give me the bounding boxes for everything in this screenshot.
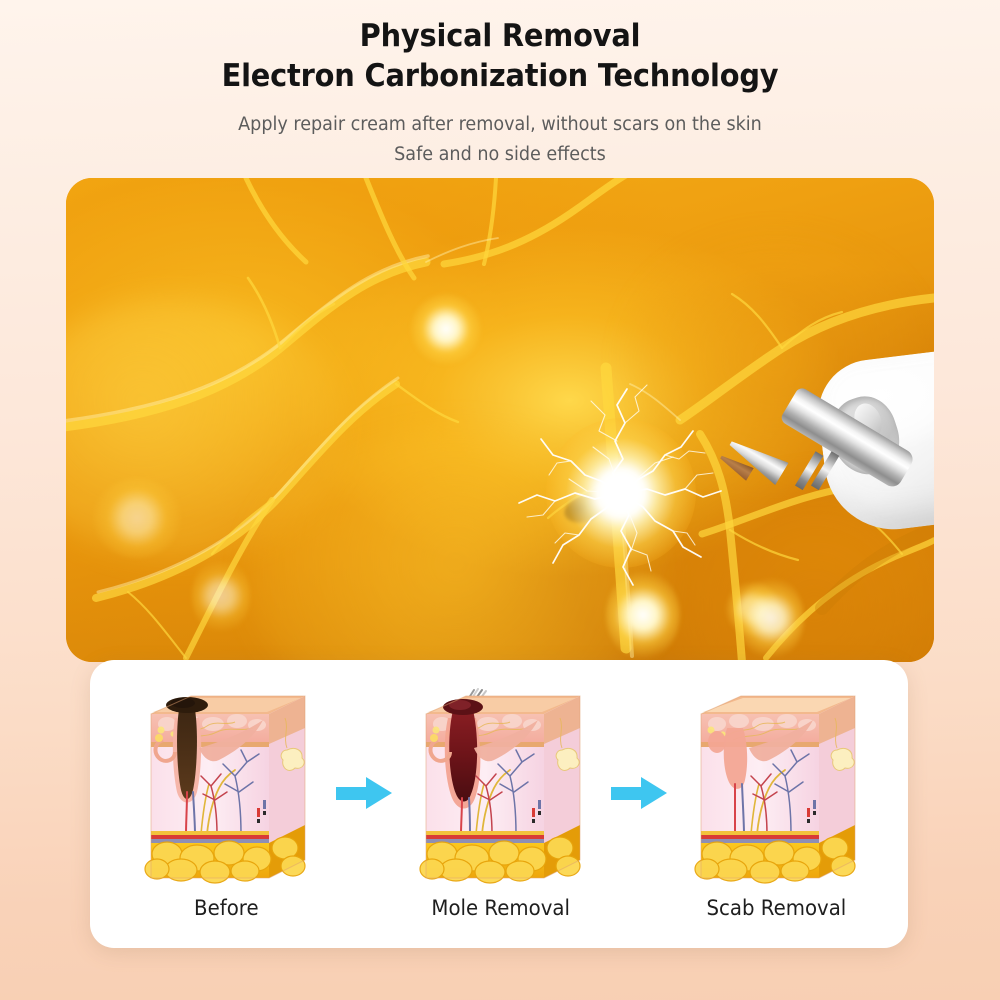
skin-diagram-scab-removal [687,688,865,884]
plasma-pen-device [808,349,934,564]
glow-node [606,570,680,660]
step-label: Scab Removal [706,896,846,920]
process-steps-card: Before [90,660,908,948]
subtitle-line-2: Safe and no side effects [25,140,975,171]
header-block: Physical Removal Electron Carbonization … [0,16,1000,171]
steps-row: Before [90,660,908,948]
skin-diagram-before [137,688,315,884]
arrow-shaft [336,787,370,800]
hero-image [66,178,934,662]
glow-node [92,478,182,558]
glow-node [192,558,250,634]
step-scab-removal: Scab Removal [678,688,874,920]
arrow-icon [336,776,392,810]
step-label: Before [194,896,259,920]
glow-node [411,294,481,364]
headline-line-2: Electron Carbonization Technology [35,56,965,96]
step-label: Mole Removal [432,896,571,920]
subtitle-block: Apply repair cream after removal, withou… [25,110,975,171]
arrow-head [366,777,392,809]
arrow-shaft [611,787,645,800]
step-mole-removal: Mole Removal [403,688,599,920]
subtitle-line-1: Apply repair cream after removal, withou… [25,110,975,141]
arrow-icon [611,776,667,810]
step-before: Before [128,688,324,920]
arrow-head [641,777,667,809]
skin-diagram-mole-removal [412,688,590,884]
page-title: Physical Removal Electron Carbonization … [35,16,965,97]
headline-line-1: Physical Removal [35,16,965,56]
glow-node [738,576,804,660]
product-feature-page: Physical Removal Electron Carbonization … [0,0,1000,1000]
